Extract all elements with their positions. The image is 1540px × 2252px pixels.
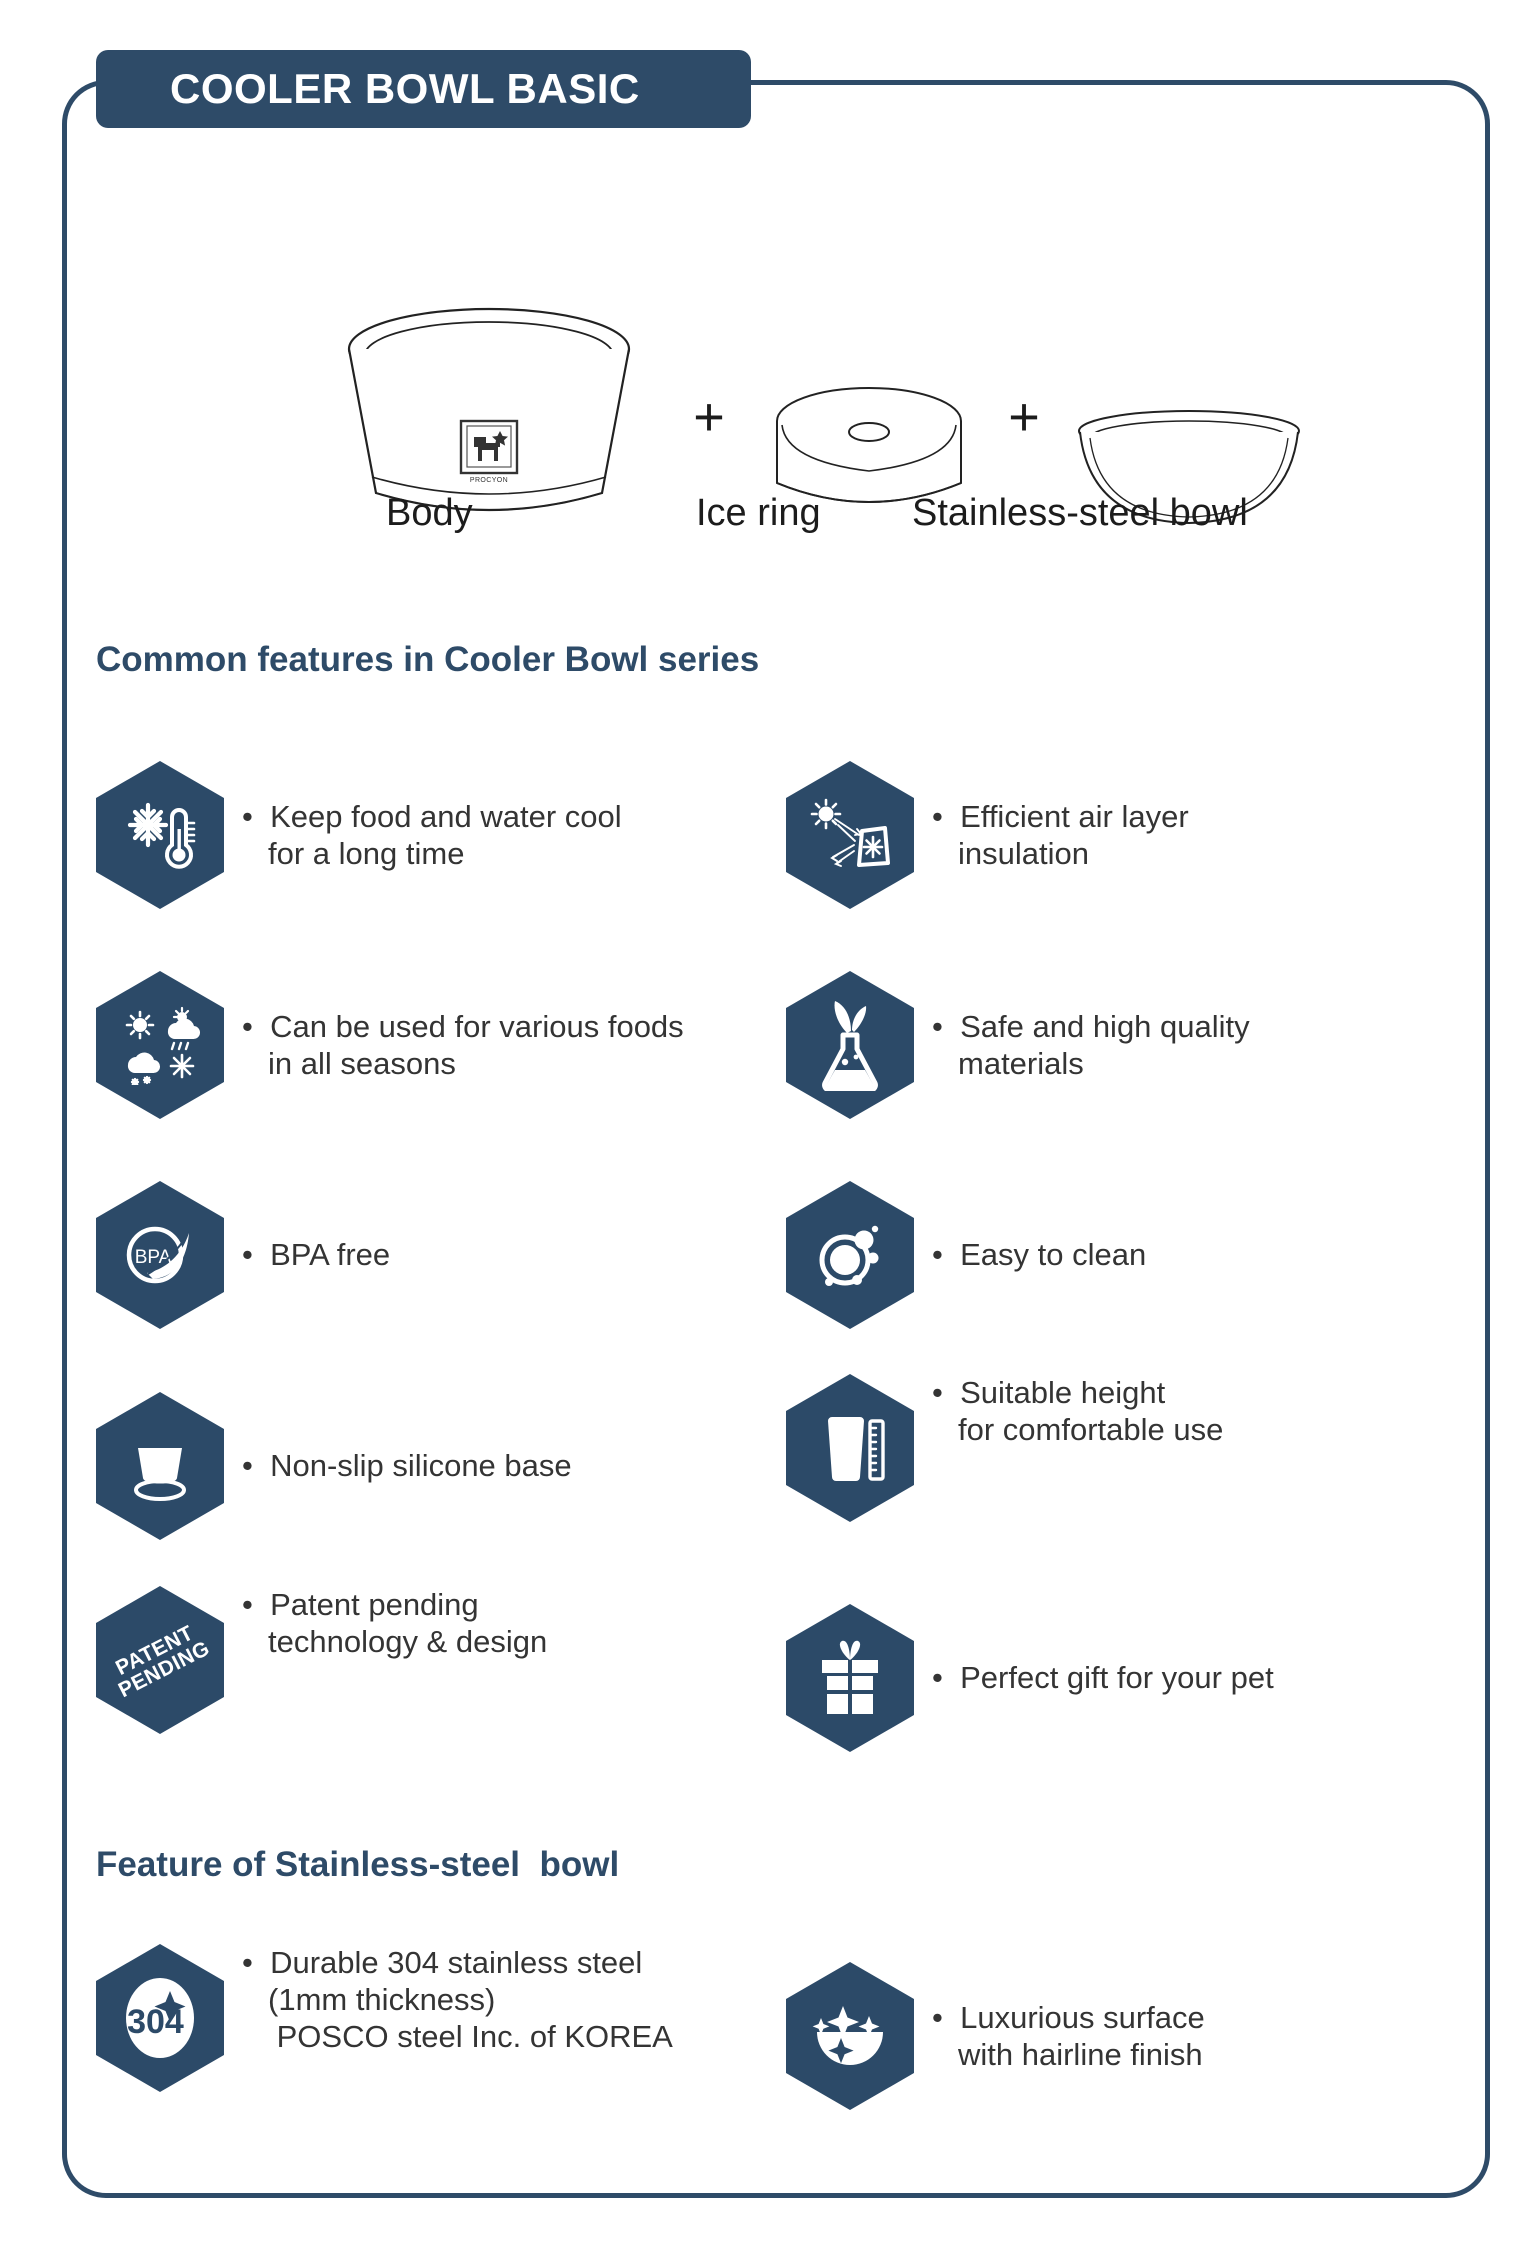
section-heading-steel-feature: Feature of Stainless-steel bowl	[96, 1845, 619, 1885]
feature-text: Keep food and water cool for a long time	[242, 798, 622, 872]
silicone-base-icon	[96, 1392, 224, 1540]
feature-text: Easy to clean	[932, 1236, 1146, 1273]
part-label-body: Body	[386, 492, 473, 535]
sparkle-bowl-icon	[786, 1962, 914, 2110]
feature-item-air-insulation: Efficient air layer insulation	[786, 730, 1476, 940]
product-part-body: PROCYON	[324, 305, 654, 540]
feature-item-304-steel: 304 Durable 304 stainless steel (1mm thi…	[96, 1930, 786, 2142]
four-seasons-weather-icon	[96, 971, 224, 1119]
gift-box-icon	[786, 1604, 914, 1752]
feature-text: BPA free	[242, 1236, 390, 1273]
feature-text: Non-slip silicone base	[242, 1447, 572, 1484]
feature-item-luxurious-surface: Luxurious surface with hairline finish	[786, 1930, 1476, 2142]
part-label-ice-ring: Ice ring	[696, 492, 821, 535]
feature-row: PATENT PENDING Patent pending technology…	[96, 1572, 1476, 1784]
part-label-steel-bowl: Stainless-steel bowl	[912, 492, 1248, 535]
bowl-body-illustration: PROCYON	[324, 305, 654, 535]
soap-bubbles-icon	[786, 1181, 914, 1329]
feature-text: Luxurious surface with hairline finish	[932, 1999, 1205, 2073]
feature-text: Perfect gift for your pet	[932, 1659, 1274, 1696]
steel-grade-label: 304	[127, 2003, 184, 2042]
section-heading-common-features: Common features in Cooler Bowl series	[96, 640, 759, 680]
feature-row: Can be used for various foods in all sea…	[96, 940, 1476, 1150]
flask-leaf-icon	[786, 971, 914, 1119]
snowflake-thermometer-icon	[96, 761, 224, 909]
feature-text: Can be used for various foods in all sea…	[242, 1008, 684, 1082]
feature-item-easy-clean: Easy to clean	[786, 1150, 1476, 1360]
height-ruler-icon	[786, 1374, 914, 1522]
feature-item-silicone-base: Non-slip silicone base	[96, 1360, 786, 1572]
feature-row: BPA BPA free	[96, 1150, 1476, 1360]
feature-item-patent-pending: PATENT PENDING Patent pending technology…	[96, 1572, 786, 1784]
bpa-free-leaf-icon: BPA	[96, 1181, 224, 1329]
feature-item-keep-cool: Keep food and water cool for a long time	[96, 730, 786, 940]
feature-text: Safe and high quality materials	[932, 1008, 1250, 1082]
patent-pending-label: PATENT PENDING	[106, 1618, 214, 1701]
feature-text: Patent pending technology & design	[242, 1586, 547, 1660]
feature-text: Efficient air layer insulation	[932, 798, 1189, 872]
steel-features-grid: 304 Durable 304 stainless steel (1mm thi…	[96, 1930, 1476, 2142]
feature-row: Keep food and water cool for a long time	[96, 730, 1476, 940]
patent-pending-icon: PATENT PENDING	[96, 1586, 224, 1734]
feature-item-perfect-gift: Perfect gift for your pet	[786, 1572, 1476, 1784]
feature-text: Durable 304 stainless steel (1mm thickne…	[242, 1944, 673, 2056]
infographic-page: COOLER BOWL BASIC PROCYON +	[0, 0, 1540, 2252]
steel-304-badge-icon: 304	[96, 1944, 224, 2092]
feature-row: 304 Durable 304 stainless steel (1mm thi…	[96, 1930, 1476, 2142]
feature-text: Suitable height for comfortable use	[932, 1374, 1223, 1448]
bpa-label: BPA	[135, 1247, 172, 1268]
feature-row: Non-slip silicone base Suitable heig	[96, 1360, 1476, 1572]
procyon-logo-text: PROCYON	[470, 477, 508, 484]
plus-icon: +	[693, 387, 725, 447]
plus-icon: +	[1008, 387, 1040, 447]
feature-item-all-seasons: Can be used for various foods in all sea…	[96, 940, 786, 1150]
common-features-grid: Keep food and water cool for a long time	[96, 730, 1476, 1784]
sun-rays-insulation-icon	[786, 761, 914, 909]
feature-item-safe-materials: Safe and high quality materials	[786, 940, 1476, 1150]
feature-item-suitable-height: Suitable height for comfortable use	[786, 1360, 1476, 1572]
feature-item-bpa-free: BPA BPA free	[96, 1150, 786, 1360]
title-banner: COOLER BOWL BASIC	[96, 50, 751, 128]
page-title: COOLER BOWL BASIC	[170, 65, 640, 113]
